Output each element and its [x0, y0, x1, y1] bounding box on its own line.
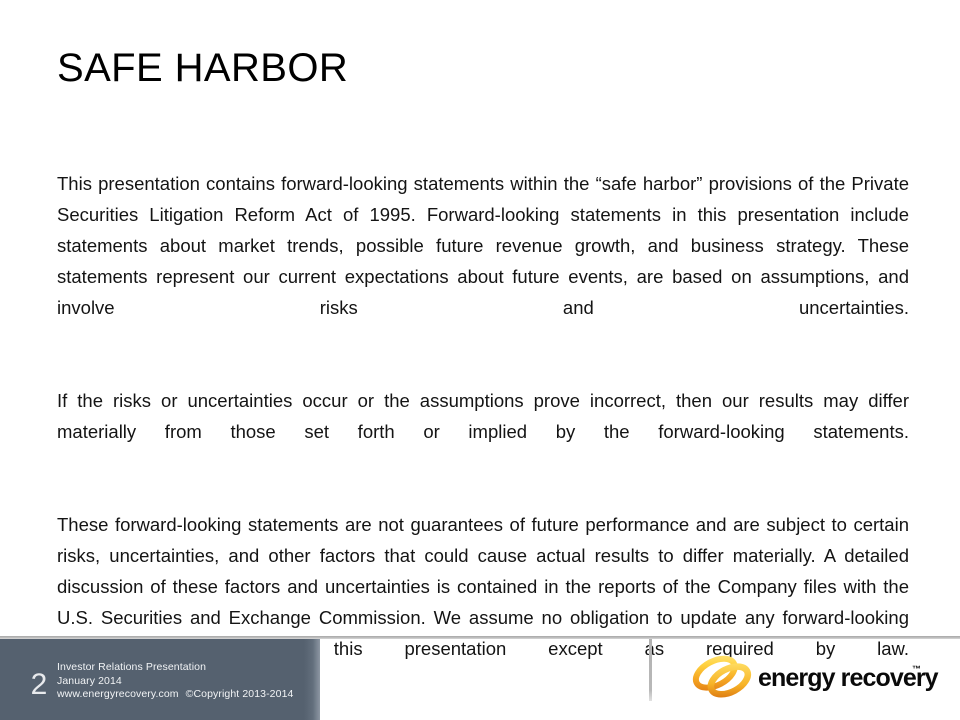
footer-block-edge [304, 639, 320, 720]
footer-text: Investor Relations Presentation January … [57, 661, 293, 702]
footer-website-line: www.energyrecovery.com©Copyright 2013-20… [57, 688, 293, 702]
slide-body: This presentation contains forward-looki… [57, 168, 909, 695]
page-title: SAFE HARBOR [57, 44, 348, 92]
footer-divider-vertical [649, 639, 652, 701]
logo-trademark: ™ [912, 664, 921, 674]
body-paragraph-1: This presentation contains forward-looki… [57, 168, 909, 354]
footer-presentation-name: Investor Relations Presentation [57, 661, 293, 675]
energy-recovery-swirl-icon [690, 650, 756, 704]
footer-date: January 2014 [57, 675, 293, 689]
logo-wordmark: energy recovery [758, 665, 938, 692]
footer-copyright: ©Copyright 2013-2014 [186, 688, 294, 700]
presentation-slide: SAFE HARBOR This presentation contains f… [0, 0, 960, 720]
body-paragraph-2: If the risks or uncertainties occur or t… [57, 385, 909, 478]
slide-number: 2 [22, 668, 56, 702]
footer-website[interactable]: www.energyrecovery.com [57, 688, 179, 700]
company-logo: energy recovery ™ [690, 650, 922, 706]
